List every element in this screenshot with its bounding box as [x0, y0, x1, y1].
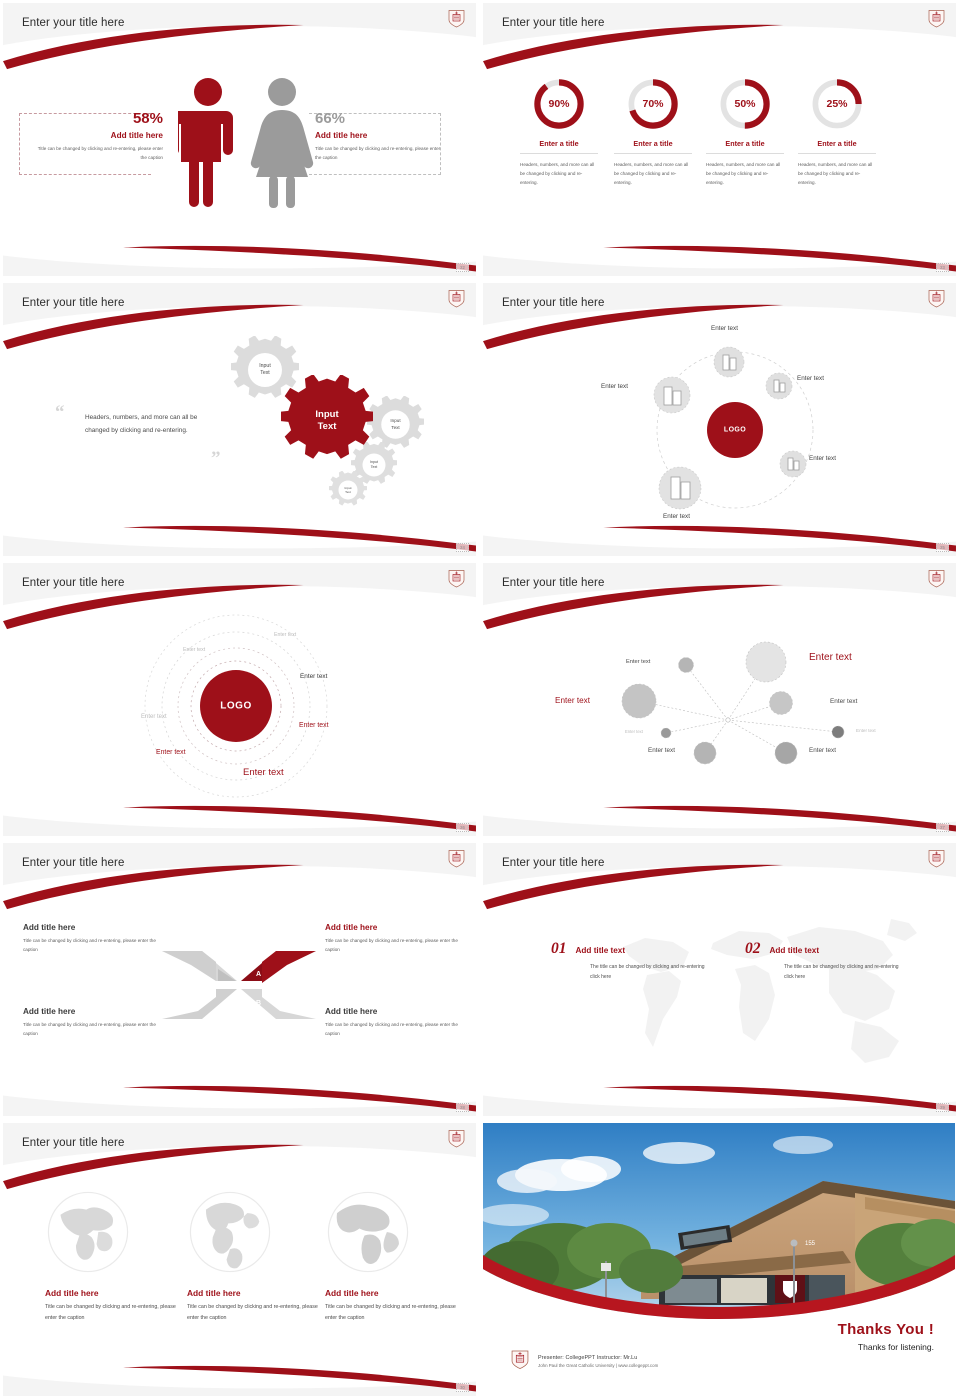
donut-card-1: 90% Enter a title Headers, numbers, and …: [511, 77, 607, 188]
slide-canvas: Enter your title here 58% Add title here…: [3, 3, 476, 276]
slide-number-badge: 23: [936, 263, 949, 272]
slide-number-badge: 28: [456, 1103, 469, 1112]
slide-deck-grid: Enter your title here 58% Add title here…: [0, 0, 960, 1400]
item-heading: Add title text: [576, 946, 626, 955]
donut-card-4: 25% Enter a title Headers, numbers, and …: [789, 77, 885, 188]
network-diagram: [483, 563, 955, 835]
right-caption: Title can be changed by clicking and re-…: [315, 145, 447, 163]
page-title: Enter your title here: [22, 577, 124, 589]
item-heading: Add title text: [770, 946, 820, 955]
donut-value: 70%: [626, 77, 680, 131]
donut-chart: 70%: [626, 77, 680, 131]
shield-crest-icon: [928, 9, 945, 28]
item-caption: The title can be changed by clicking and…: [590, 962, 711, 983]
ring-label-1: Enter text: [274, 632, 296, 638]
slide-canvas: Enter your title here 90% Enter a: [483, 3, 956, 276]
right-stat-block: 66% Add title here Title can be changed …: [315, 111, 447, 163]
slide-thumbnail-29[interactable]: Enter your title here: [480, 840, 960, 1120]
globe-column-3: Add title here Title can be changed by c…: [325, 1189, 459, 1323]
shield-crest-icon: [448, 569, 465, 588]
quote-open-icon: “: [55, 403, 65, 422]
column-heading: Add title here: [187, 1288, 321, 1298]
divider: [798, 153, 876, 154]
page-title: Enter your title here: [502, 857, 604, 869]
quote-close-icon: ”: [211, 449, 221, 468]
shield-crest-icon: [448, 9, 465, 28]
page-title: Enter your title here: [22, 297, 124, 309]
hub-label: LOGO: [724, 427, 746, 434]
slide-content: Add title here Title can be changed by c…: [3, 843, 476, 1116]
donut-value: 25%: [810, 77, 864, 131]
slide-number-badge: 22: [456, 263, 469, 272]
donut-card-2: 70% Enter a title Headers, numbers, and …: [605, 77, 701, 188]
donut-chart: 90%: [532, 77, 586, 131]
quadrant-heading: Add title here: [23, 923, 158, 932]
ring-label-5: Enter text: [299, 722, 329, 729]
quadrant-top-right: Add title here Title can be changed by c…: [325, 923, 460, 954]
item-caption: The title can be changed by clicking and…: [784, 962, 905, 983]
slide-canvas: Enter your title here LOGO Enter text En…: [3, 563, 476, 836]
slide-number-badge: 29: [936, 1103, 949, 1112]
letter-b: B: [256, 1000, 261, 1007]
donut-title: Enter a title: [789, 139, 885, 148]
donut-chart: 25%: [810, 77, 864, 131]
node-label-top: Enter text: [711, 325, 738, 332]
node-label-upper-right: Enter text: [797, 375, 824, 382]
slide-canvas: Enter your title here “ ” Headers, numbe…: [3, 283, 476, 556]
slide-thumbnail-23[interactable]: Enter your title here 90% Enter a: [480, 0, 960, 280]
page-title: Enter your title here: [502, 577, 604, 589]
slide-content: Enter text Enter text Enter text Enter t…: [483, 563, 956, 836]
shield-crest-icon: [511, 1349, 529, 1370]
letter-a: A: [256, 971, 261, 978]
quadrant-caption: Title can be changed by clicking and re-…: [23, 936, 158, 954]
divider: [706, 153, 784, 154]
shield-crest-icon: [448, 849, 465, 868]
network-label-4: Enter text: [830, 698, 857, 705]
globe-icon: [325, 1189, 411, 1275]
globe-column-1: Add title here Title can be changed by c…: [45, 1189, 179, 1323]
hub-label: LOGO: [220, 701, 251, 712]
donut-title: Enter a title: [605, 139, 701, 148]
column-caption: Title can be changed by clicking and re-…: [45, 1302, 179, 1323]
presenter-footer: Presenter: CollegePPT Instructor: Mr.Lu …: [538, 1355, 658, 1368]
quadrant-bottom-right: Add title here Title can be changed by c…: [325, 1007, 460, 1038]
left-heading: Add title here: [33, 131, 163, 140]
slide-content: “ ” Headers, numbers, and more can all b…: [3, 283, 476, 556]
slide-canvas: Enter your title here: [483, 563, 956, 836]
hub-spoke-diagram: [483, 283, 955, 555]
quadrant-bottom-left: Add title here Title can be changed by c…: [23, 1007, 158, 1038]
ring-label-2: Enter text: [183, 647, 205, 653]
slide-content: Add title here Title can be changed by c…: [3, 1123, 476, 1396]
quadrant-top-left: Add title here Title can be changed by c…: [23, 923, 158, 954]
network-label-1: Enter text: [626, 659, 650, 665]
shield-crest-icon: [928, 849, 945, 868]
footer-presenter-line: Presenter: CollegePPT Instructor: Mr.Lu: [538, 1355, 658, 1361]
donut-title: Enter a title: [511, 139, 607, 148]
shield-crest-icon: [928, 289, 945, 308]
quadrant-heading: Add title here: [23, 1007, 158, 1016]
donut-card-3: 50% Enter a title Headers, numbers, and …: [697, 77, 793, 188]
slide-canvas: Enter your title here: [483, 283, 956, 556]
slide-canvas: Enter your title here Add title here Tit…: [3, 843, 476, 1116]
network-label-7: Enter text: [809, 747, 836, 754]
network-label-8: Enter text: [856, 728, 876, 733]
network-label-2: Enter text: [809, 652, 852, 663]
slide-content: 01 Add title text The title can be chang…: [483, 843, 956, 1116]
shield-crest-icon: [448, 289, 465, 308]
x-ribbon-diagram: [158, 943, 320, 1027]
slide-number-badge: 30: [456, 1383, 469, 1392]
slide-thumbnail-30[interactable]: Enter your title here Add title here T: [0, 1120, 480, 1400]
donut-caption: Headers, numbers, and more can all be ch…: [789, 160, 885, 188]
thanks-subtitle: Thanks for listening.: [838, 1342, 934, 1352]
building-number: 155: [805, 1241, 816, 1247]
globe-column-2: Add title here Title can be changed by c…: [187, 1189, 321, 1323]
thanks-title: Thanks You !: [838, 1321, 934, 1338]
column-heading: Add title here: [325, 1288, 459, 1298]
shield-crest-icon: [448, 1129, 465, 1148]
node-label-lower-right: Enter text: [809, 455, 836, 462]
page-title: Enter your title here: [22, 1137, 124, 1149]
slide-canvas: 155 Thanks You ! Thanks for listening. P…: [483, 1123, 956, 1396]
slide-content: 90% Enter a title Headers, numbers, and …: [483, 3, 956, 276]
world-map-watermark: [603, 913, 923, 1081]
ring-label-7: Enter text: [243, 767, 284, 778]
letter-d: D: [232, 971, 237, 978]
slide-content: 58% Add title here Title can be changed …: [3, 3, 476, 276]
ring-label-3: Enter text: [300, 673, 327, 680]
slide-content: LOGO Enter text Enter text Enter text En…: [3, 563, 476, 836]
column-caption: Title can be changed by clicking and re-…: [187, 1302, 321, 1323]
quote-text: Headers, numbers, and more can all be ch…: [85, 411, 213, 437]
page-title: Enter your title here: [502, 297, 604, 309]
point-item-1: 01 Add title text The title can be chang…: [551, 941, 711, 982]
page-title: Enter your title here: [502, 17, 604, 29]
ring-label-4: Enter text: [141, 714, 167, 720]
quadrant-caption: Title can be changed by clicking and re-…: [325, 1020, 460, 1038]
female-figure-icon: [249, 75, 315, 210]
concentric-rings-diagram: [3, 563, 475, 835]
left-caption: Title can be changed by clicking and re-…: [33, 145, 163, 163]
donut-chart: 50%: [718, 77, 772, 131]
male-figure-icon: [178, 75, 238, 210]
network-label-6: Enter text: [648, 747, 675, 754]
slide-thumbnail-31[interactable]: 155 Thanks You ! Thanks for listening. P…: [480, 1120, 960, 1400]
footer-university-line: John Paul the Great Catholic University …: [538, 1363, 658, 1368]
quadrant-heading: Add title here: [325, 923, 460, 932]
slide-number-badge: 24: [456, 543, 469, 552]
quadrant-caption: Title can be changed by clicking and re-…: [325, 936, 460, 954]
network-label-5: Enter text: [625, 729, 643, 734]
letter-c: C: [232, 1000, 237, 1007]
slide-thumbnail-27[interactable]: Enter your title here: [480, 560, 960, 840]
network-label-3: Enter text: [555, 696, 590, 705]
divider: [520, 153, 598, 154]
slide-thumbnail-24[interactable]: Enter your title here “ ” Headers, numbe…: [0, 280, 480, 560]
slide-number-badge: 25: [936, 543, 949, 552]
item-number: 01: [551, 941, 567, 957]
item-number: 02: [745, 941, 761, 957]
slide-thumbnail-28[interactable]: Enter your title here Add title here Tit…: [0, 840, 480, 1120]
right-percent-value: 66%: [315, 111, 447, 126]
globe-icon: [45, 1189, 131, 1275]
donut-caption: Headers, numbers, and more can all be ch…: [697, 160, 793, 188]
node-label-bottom: Enter text: [663, 513, 690, 520]
column-heading: Add title here: [45, 1288, 179, 1298]
point-item-2: 02 Add title text The title can be chang…: [745, 941, 905, 982]
gear-accent: Input Text: [281, 375, 373, 467]
slide-canvas: Enter your title here Add title here T: [3, 1123, 476, 1396]
slide-canvas: Enter your title here: [483, 843, 956, 1116]
donut-caption: Headers, numbers, and more can all be ch…: [511, 160, 607, 188]
slide-number-badge: 26: [456, 823, 469, 832]
ring-label-6: Enter text: [156, 749, 186, 756]
slide-thumbnail-25[interactable]: Enter your title here: [480, 280, 960, 560]
slide-content: LOGO Enter text Enter text Enter text En…: [483, 283, 956, 556]
divider: [614, 153, 692, 154]
page-title: Enter your title here: [22, 17, 124, 29]
donut-title: Enter a title: [697, 139, 793, 148]
slide-thumbnail-26[interactable]: Enter your title here LOGO Enter text En…: [0, 560, 480, 840]
shield-crest-icon: [928, 569, 945, 588]
quadrant-heading: Add title here: [325, 1007, 460, 1016]
column-caption: Title can be changed by clicking and re-…: [325, 1302, 459, 1323]
node-label-left: Enter text: [601, 383, 628, 390]
slide-number-badge: 27: [936, 823, 949, 832]
donut-value: 90%: [532, 77, 586, 131]
slide-thumbnail-22[interactable]: Enter your title here 58% Add title here…: [0, 0, 480, 280]
left-percent-value: 58%: [33, 111, 163, 126]
gear-muted-tiny: Input Text: [329, 471, 367, 509]
thanks-block: Thanks You ! Thanks for listening.: [838, 1321, 934, 1352]
donut-caption: Headers, numbers, and more can all be ch…: [605, 160, 701, 188]
left-stat-block: 58% Add title here Title can be changed …: [33, 111, 163, 163]
page-title: Enter your title here: [22, 857, 124, 869]
right-heading: Add title here: [315, 131, 447, 140]
quadrant-caption: Title can be changed by clicking and re-…: [23, 1020, 158, 1038]
globe-icon: [187, 1189, 273, 1275]
donut-value: 50%: [718, 77, 772, 131]
